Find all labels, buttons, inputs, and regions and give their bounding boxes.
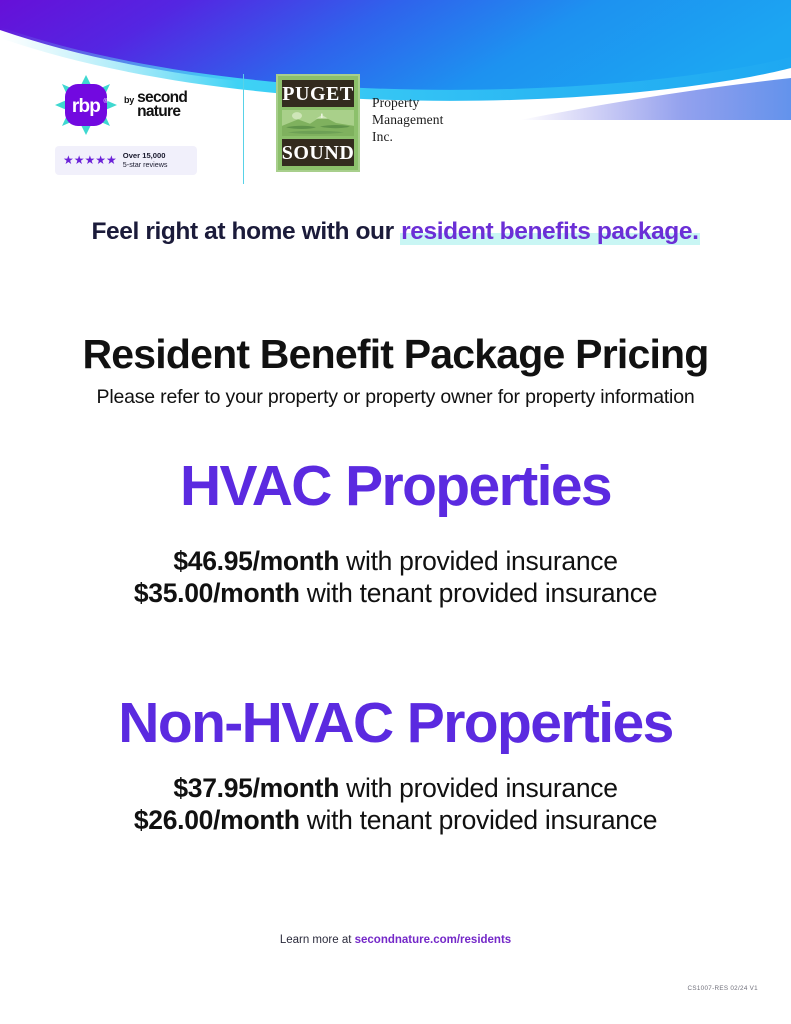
price-description: with provided insurance: [339, 773, 618, 803]
puget-sound-logo-block: PUGET SOUND PropertyManagementInc.: [276, 74, 443, 172]
learn-more-prefix: Learn more at: [280, 934, 355, 946]
sound-word: SOUND: [282, 139, 354, 166]
rbp-lockup: rbp ® by second nature: [55, 74, 207, 136]
price-amount: $26.00/month: [134, 805, 300, 835]
nature-word: nature: [137, 105, 187, 120]
price-amount: $35.00/month: [134, 578, 300, 608]
star-rating-icon: ★★★★★: [63, 154, 117, 166]
reviews-badge: ★★★★★ Over 15,000 5-star reviews: [55, 146, 197, 175]
section-hvac: HVAC Properties $46.95/month with provid…: [0, 455, 791, 609]
puget-sound-badge-icon: PUGET SOUND: [276, 74, 360, 172]
puget-sound-tagline: PropertyManagementInc.: [372, 74, 443, 145]
price-row: $35.00/month with tenant provided insura…: [0, 577, 791, 609]
price-description: with tenant provided insurance: [300, 805, 658, 835]
reviews-count: Over 15,000: [123, 151, 168, 160]
price-amount: $46.95/month: [173, 546, 339, 576]
tagline-plain: Feel right at home with our: [91, 218, 400, 245]
tagline-highlight: resident benefits package.: [400, 218, 699, 245]
price-row: $37.95/month with provided insurance: [0, 772, 791, 804]
page-subtitle: Please refer to your property or propert…: [0, 386, 791, 409]
footer-learn-more: Learn more at secondnature.com/residents: [0, 934, 791, 946]
puget-word: PUGET: [282, 80, 354, 107]
rbp-mark-icon: rbp ®: [55, 74, 117, 136]
by-label: by: [124, 95, 134, 105]
price-row: $26.00/month with tenant provided insura…: [0, 804, 791, 836]
price-amount: $37.95/month: [173, 773, 339, 803]
price-description: with provided insurance: [339, 546, 618, 576]
reviews-label: 5-star reviews: [123, 160, 168, 169]
section-non-hvac: Non-HVAC Properties $37.95/month with pr…: [0, 692, 791, 836]
second-nature-words: second nature: [137, 91, 187, 120]
price-row: $46.95/month with provided insurance: [0, 545, 791, 577]
second-nature-wordmark: by second nature: [124, 91, 187, 120]
section-heading-non-hvac: Non-HVAC Properties: [0, 692, 791, 754]
document-code: CS1007-RES 02/24 V1: [688, 985, 758, 992]
section-heading-hvac: HVAC Properties: [0, 455, 791, 517]
svg-text:®: ®: [104, 98, 109, 105]
hero-tagline: Feel right at home with our resident ben…: [0, 218, 791, 246]
logo-row: rbp ® by second nature ★★★★★ Over 15,000…: [55, 74, 745, 186]
price-description: with tenant provided insurance: [300, 578, 658, 608]
reviews-text: Over 15,000 5-star reviews: [123, 151, 168, 169]
rbp-logo-block: rbp ® by second nature ★★★★★ Over 15,000…: [55, 74, 207, 175]
logo-divider: [243, 74, 244, 184]
svg-text:rbp: rbp: [72, 96, 100, 117]
secondnature-link[interactable]: secondnature.com/residents: [355, 934, 512, 946]
page-title: Resident Benefit Package Pricing: [0, 331, 791, 378]
landscape-illustration-icon: [282, 110, 354, 136]
flyer-page: rbp ® by second nature ★★★★★ Over 15,000…: [0, 0, 791, 1024]
